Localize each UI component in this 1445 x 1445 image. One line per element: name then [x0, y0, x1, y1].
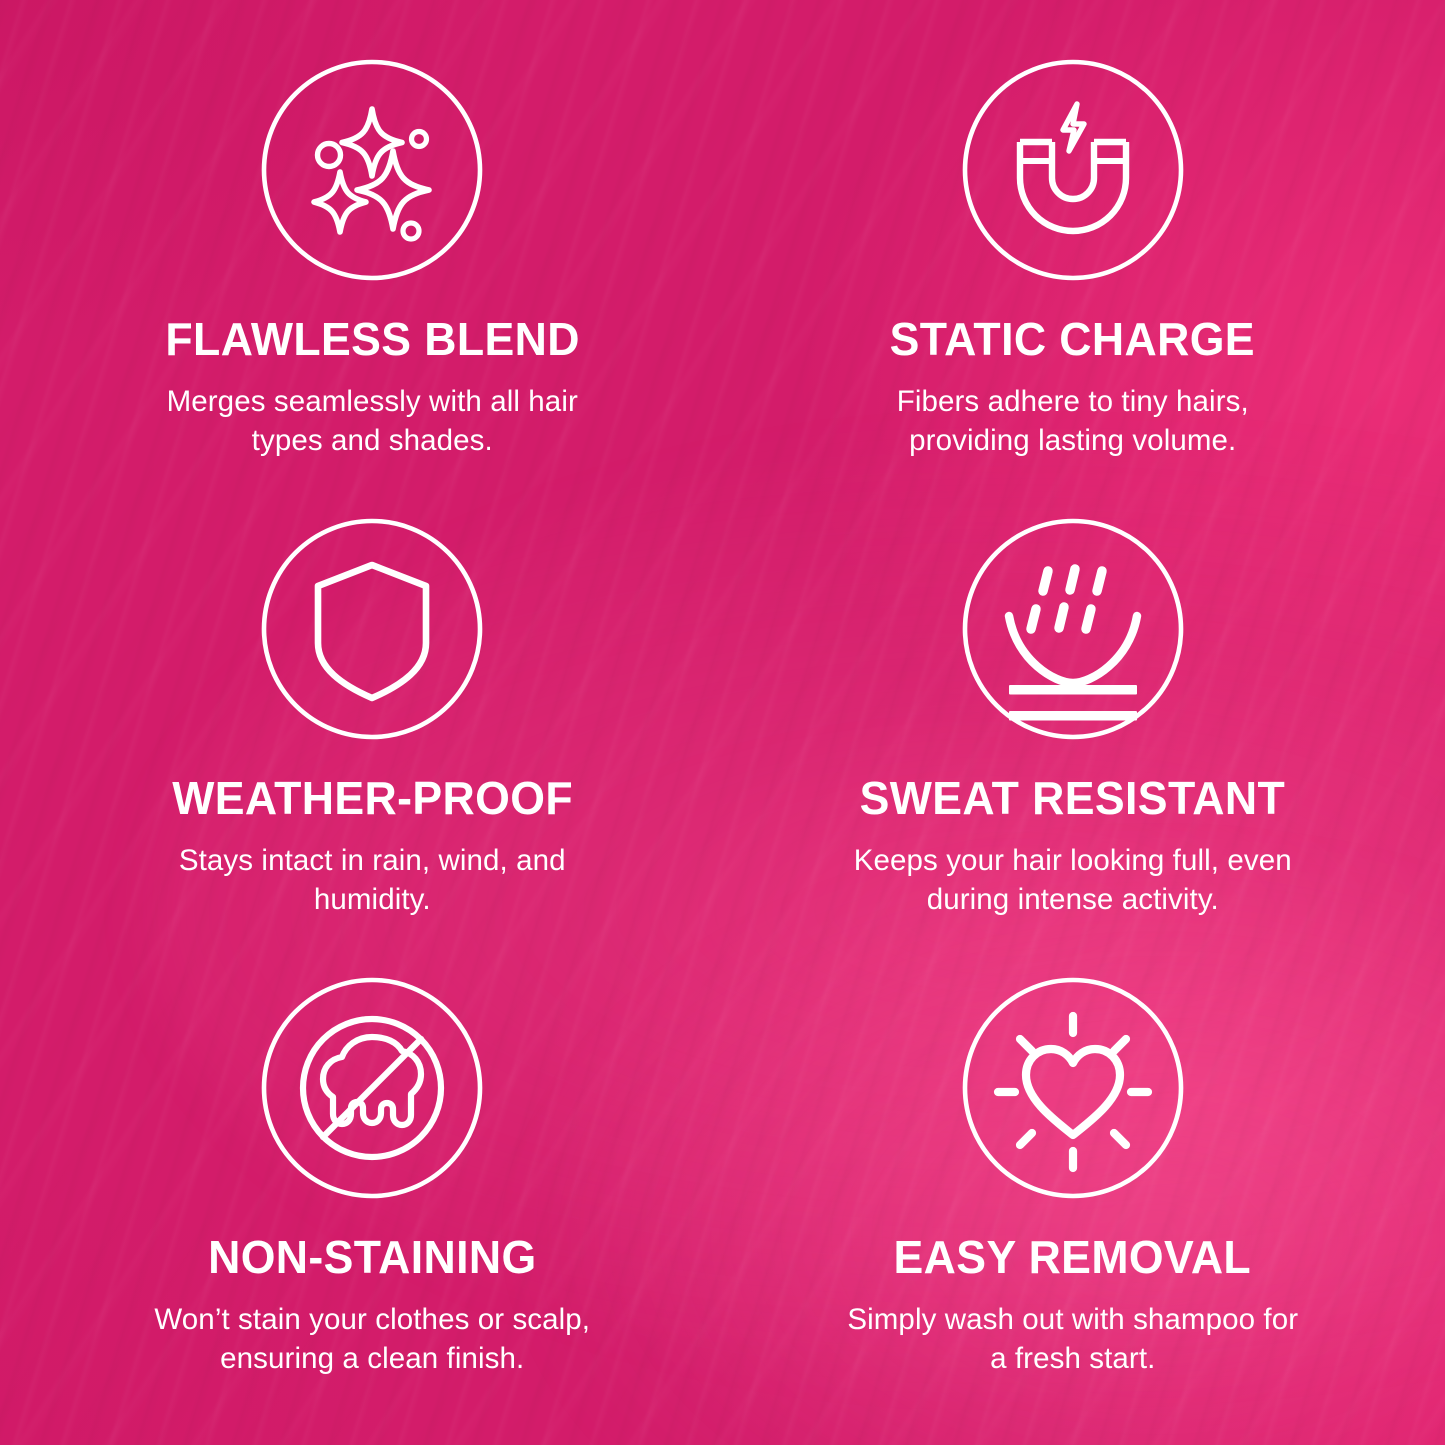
feature-grid-graphic: FLAWLESS BLEND Merges seamlessly with al…	[0, 0, 1445, 1445]
shining-heart-icon	[957, 972, 1189, 1204]
feature-card-flawless-blend: FLAWLESS BLEND Merges seamlessly with al…	[22, 44, 723, 503]
feature-description: Stays intact in rain, wind, and humidity…	[137, 841, 607, 919]
feature-card-weather-proof: WEATHER-PROOF Stays intact in rain, wind…	[22, 503, 723, 962]
sweat-droplets-icon	[957, 513, 1189, 745]
feature-title: STATIC CHARGE	[890, 316, 1255, 362]
feature-description: Won’t stain your clothes or scalp, ensur…	[137, 1300, 607, 1378]
feature-title: EASY REMOVAL	[894, 1234, 1252, 1280]
feature-card-easy-removal: EASY REMOVAL Simply wash out with shampo…	[723, 962, 1424, 1421]
feature-description: Keeps your hair looking full, even durin…	[838, 841, 1308, 919]
sparkles-icon	[256, 54, 488, 286]
feature-description: Fibers adhere to tiny hairs, providing l…	[838, 382, 1308, 460]
shield-icon	[256, 513, 488, 745]
feature-title: WEATHER-PROOF	[172, 775, 573, 821]
feature-card-sweat-resistant: SWEAT RESISTANT Keeps your hair looking …	[723, 503, 1424, 962]
feature-title: NON-STAINING	[208, 1234, 537, 1280]
feature-title: SWEAT RESISTANT	[860, 775, 1286, 821]
features-grid: FLAWLESS BLEND Merges seamlessly with al…	[0, 0, 1445, 1445]
no-stain-icon	[256, 972, 488, 1204]
feature-description: Simply wash out with shampoo for a fresh…	[838, 1300, 1308, 1378]
feature-card-static-charge: STATIC CHARGE Fibers adhere to tiny hair…	[723, 44, 1424, 503]
feature-description: Merges seamlessly with all hair types an…	[137, 382, 607, 460]
magnet-lightning-icon	[957, 54, 1189, 286]
feature-card-non-staining: NON-STAINING Won’t stain your clothes or…	[22, 962, 723, 1421]
feature-title: FLAWLESS BLEND	[165, 316, 579, 362]
